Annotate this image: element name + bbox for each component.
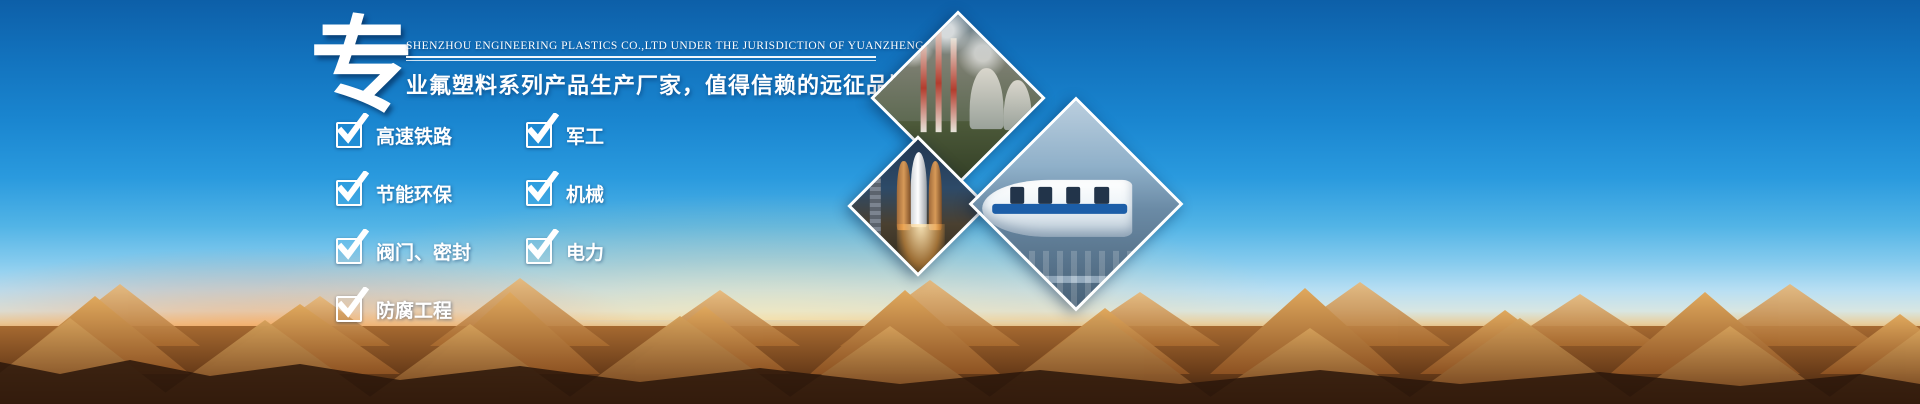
check-box-icon[interactable]: [526, 180, 552, 206]
check-mark-icon: [335, 229, 369, 263]
check-box-icon[interactable]: [336, 180, 362, 206]
feature-column-2: 军工 机械 电力: [526, 118, 604, 292]
feature-label: 机械: [566, 180, 604, 207]
english-company-line: SHENZHOU ENGINEERING PLASTICS CO.,LTD UN…: [406, 40, 876, 52]
feature-item-energy-saving[interactable]: 节能环保: [336, 176, 471, 210]
divider-rule-top: [406, 56, 876, 58]
feature-label: 军工: [566, 122, 604, 149]
headline-text-group: SHENZHOU ENGINEERING PLASTICS CO.,LTD UN…: [406, 40, 876, 100]
headline-block: 专 SHENZHOU ENGINEERING PLASTICS CO.,LTD …: [310, 18, 890, 113]
feature-item-valve-seal[interactable]: 阀门、密封: [336, 234, 471, 268]
check-box-icon[interactable]: [526, 238, 552, 264]
feature-label: 节能环保: [376, 180, 452, 207]
feature-item-machinery[interactable]: 机械: [526, 176, 604, 210]
feature-column-1: 高速铁路 节能环保 阀门、密封: [336, 118, 471, 350]
divider-rule-bottom: [406, 60, 876, 61]
check-mark-icon: [335, 287, 369, 321]
check-mark-icon: [335, 171, 369, 205]
feature-label: 防腐工程: [376, 296, 452, 323]
check-box-icon[interactable]: [336, 296, 362, 322]
check-mark-icon: [525, 229, 559, 263]
check-mark-icon: [525, 171, 559, 205]
feature-item-electric-power[interactable]: 电力: [526, 234, 604, 268]
check-box-icon[interactable]: [336, 122, 362, 148]
feature-item-high-speed-rail[interactable]: 高速铁路: [336, 118, 471, 152]
promo-banner: 专 SHENZHOU ENGINEERING PLASTICS CO.,LTD …: [0, 0, 1920, 404]
feature-label: 电力: [566, 238, 604, 265]
diamond-photo-group: [820, 28, 1240, 308]
check-mark-icon: [335, 113, 369, 147]
divider-rules: [406, 56, 876, 61]
check-box-icon[interactable]: [336, 238, 362, 264]
check-box-icon[interactable]: [526, 122, 552, 148]
chinese-tagline: 业氟塑料系列产品生产厂家，值得信赖的远征品牌: [406, 68, 876, 100]
feature-item-anticorrosion[interactable]: 防腐工程: [336, 292, 471, 326]
feature-item-military[interactable]: 军工: [526, 118, 604, 152]
feature-label: 阀门、密封: [376, 238, 471, 265]
check-mark-icon: [525, 113, 559, 147]
feature-label: 高速铁路: [376, 122, 452, 149]
